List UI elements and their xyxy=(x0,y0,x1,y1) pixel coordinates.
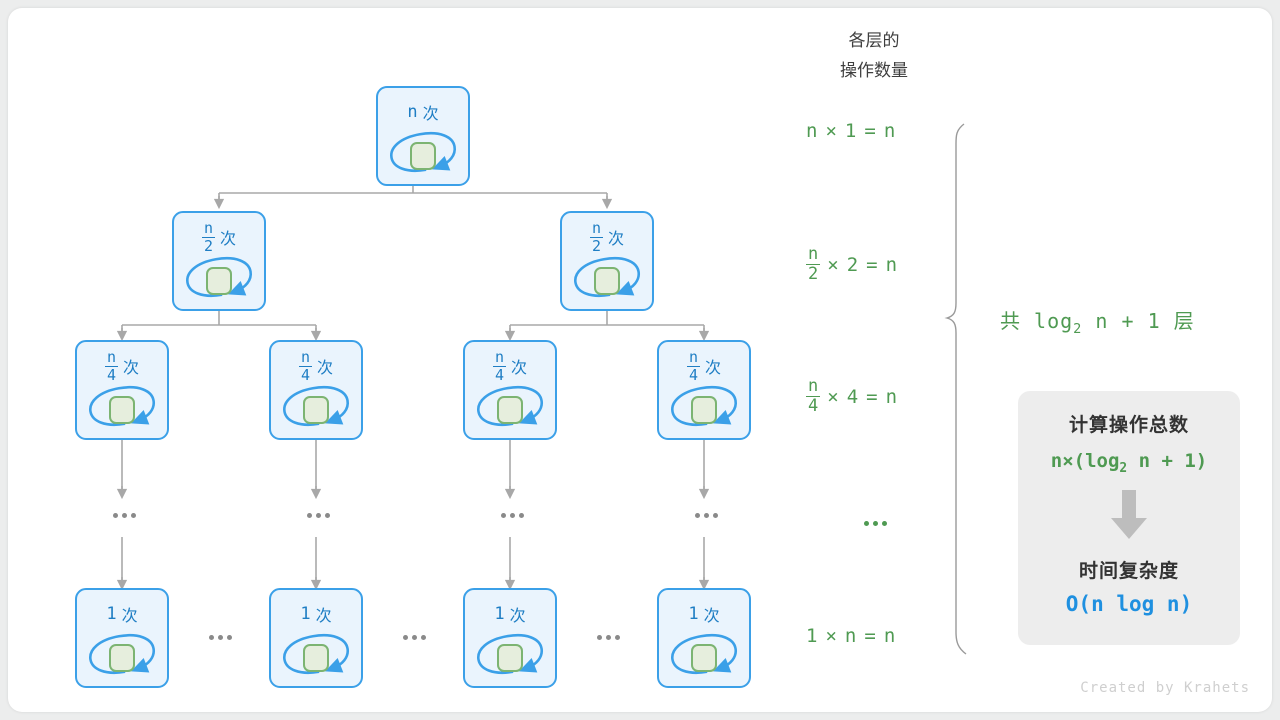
tree-node-level-3-1[interactable]: n 4 次 xyxy=(75,340,169,440)
tree-node-leaf-2[interactable]: 1 次 xyxy=(269,588,363,688)
equation-level-leaf: 1 × n = n xyxy=(806,625,896,647)
tree-node-level-3-2[interactable]: n 4 次 xyxy=(269,340,363,440)
node-count-leaf: 1 xyxy=(300,604,310,624)
fraction-numerator: n xyxy=(202,221,215,237)
info-title-total-operations: 计算操作总数 xyxy=(1069,410,1189,437)
fraction-numerator: n xyxy=(806,378,820,396)
equation-level-1: n × 1 = n xyxy=(806,120,896,142)
node-suffix: 次 xyxy=(510,602,526,626)
fraction-numerator: n xyxy=(105,350,118,366)
ellipsis-horizontal-3 xyxy=(597,635,620,640)
node-count-level-1: n xyxy=(407,102,417,122)
ellipsis-horizontal-1 xyxy=(209,635,232,640)
level-count-brace xyxy=(947,124,966,654)
equation-level-2: n 2 × 2 = n xyxy=(806,246,898,283)
brace-label-suffix: 层 xyxy=(1174,309,1195,333)
brace-label-total-levels: 共 log2 n + 1 层 xyxy=(1000,305,1195,337)
multiply-sign: × xyxy=(827,386,839,408)
down-arrow-icon xyxy=(1109,488,1149,542)
equation-level-3: n 4 × 4 = n xyxy=(806,378,898,415)
node-suffix: 次 xyxy=(123,354,139,378)
loop-arrow-icon xyxy=(666,628,742,680)
fraction-n-over-2: n 2 xyxy=(806,246,820,283)
node-label-leaf-4: 1 次 xyxy=(659,599,749,629)
brace-label-base: 2 xyxy=(1073,321,1082,337)
fraction-numerator: n xyxy=(299,350,312,366)
multiply-sign: × xyxy=(825,120,837,142)
loop-arrow-icon xyxy=(278,380,354,432)
loop-arrow-icon xyxy=(278,628,354,680)
credit-text: Created by Krahets xyxy=(1080,680,1250,696)
node-label-leaf-2: 1 次 xyxy=(271,599,361,629)
fraction-n-over-2: n 2 xyxy=(202,221,215,254)
node-suffix: 次 xyxy=(608,225,624,249)
summary-info-box: 计算操作总数 n×(log2 n + 1) 时间复杂度 O(n log n) xyxy=(1018,391,1240,645)
tree-node-level-3-4[interactable]: n 4 次 xyxy=(657,340,751,440)
loop-arrow-icon xyxy=(666,380,742,432)
fraction-numerator: n xyxy=(806,246,820,264)
equation-factor: 2 xyxy=(847,254,859,276)
loop-arrow-icon xyxy=(472,628,548,680)
node-suffix: 次 xyxy=(423,100,439,124)
loop-arrow-icon xyxy=(84,628,160,680)
info-formula-total-operations: n×(log2 n + 1) xyxy=(1051,450,1208,476)
node-suffix: 次 xyxy=(316,602,332,626)
fraction-numerator: n xyxy=(493,350,506,366)
equation-factor: 4 xyxy=(847,386,859,408)
equation-factor: 1 xyxy=(845,120,857,142)
fraction-denominator: 2 xyxy=(806,264,820,283)
multiply-sign: × xyxy=(825,625,837,647)
brace-label-log: log xyxy=(1034,309,1073,333)
tree-node-level-2-left[interactable]: n 2 次 xyxy=(172,211,266,311)
fraction-numerator: n xyxy=(590,221,603,237)
brace-label-rest: n + 1 xyxy=(1095,309,1160,333)
node-label-level-3-4: n 4 次 xyxy=(659,351,749,381)
tree-node-level-1[interactable]: n 次 xyxy=(376,86,470,186)
fraction-numerator: n xyxy=(687,350,700,366)
equation-result: n xyxy=(884,120,896,142)
node-count-leaf: 1 xyxy=(106,604,116,624)
node-label-level-3-2: n 4 次 xyxy=(271,351,361,381)
diagram-canvas: 各层的 操作数量 xyxy=(8,8,1272,712)
loop-arrow-icon xyxy=(569,251,645,303)
tree-node-leaf-3[interactable]: 1 次 xyxy=(463,588,557,688)
node-label-level-2-right: n 2 次 xyxy=(562,222,652,252)
node-count-leaf: 1 xyxy=(494,604,504,624)
tree-node-leaf-4[interactable]: 1 次 xyxy=(657,588,751,688)
node-suffix: 次 xyxy=(317,354,333,378)
node-suffix: 次 xyxy=(705,354,721,378)
node-count-leaf: 1 xyxy=(688,604,698,624)
fraction-n-over-2: n 2 xyxy=(590,221,603,254)
ellipsis-vertical-1 xyxy=(113,513,136,518)
node-label-level-3-3: n 4 次 xyxy=(465,351,555,381)
loop-arrow-icon xyxy=(84,380,160,432)
fraction-n-over-4: n 4 xyxy=(105,350,118,383)
equation-result: n xyxy=(886,254,898,276)
equals-sign: = xyxy=(864,625,876,647)
node-suffix: 次 xyxy=(704,602,720,626)
node-suffix: 次 xyxy=(220,225,236,249)
equation-result: n xyxy=(884,625,896,647)
node-label-leaf-3: 1 次 xyxy=(465,599,555,629)
formula-prefix: n×(log xyxy=(1051,450,1120,472)
fraction-denominator: 4 xyxy=(806,396,820,415)
info-title-time-complexity: 时间复杂度 xyxy=(1079,556,1179,583)
formula-base: 2 xyxy=(1119,461,1127,476)
equals-sign: = xyxy=(866,254,878,276)
equation-factor: n xyxy=(845,625,857,647)
tree-node-leaf-1[interactable]: 1 次 xyxy=(75,588,169,688)
node-suffix: 次 xyxy=(511,354,527,378)
node-label-level-3-1: n 4 次 xyxy=(77,351,167,381)
multiply-sign: × xyxy=(827,254,839,276)
loop-arrow-icon xyxy=(385,126,461,178)
fraction-n-over-4: n 4 xyxy=(493,350,506,383)
equals-sign: = xyxy=(866,386,878,408)
ellipsis-equations xyxy=(864,521,887,526)
node-suffix: 次 xyxy=(122,602,138,626)
equation-result: n xyxy=(886,386,898,408)
node-label-level-1: n 次 xyxy=(378,97,468,127)
equals-sign: = xyxy=(864,120,876,142)
ellipsis-vertical-4 xyxy=(695,513,718,518)
ellipsis-vertical-3 xyxy=(501,513,524,518)
tree-node-level-3-3[interactable]: n 4 次 xyxy=(463,340,557,440)
fraction-n-over-4: n 4 xyxy=(806,378,820,415)
equation-left-term: 1 xyxy=(806,625,818,647)
ellipsis-vertical-2 xyxy=(307,513,330,518)
node-label-level-2-left: n 2 次 xyxy=(174,222,264,252)
formula-suffix: n + 1) xyxy=(1127,450,1207,472)
fraction-n-over-4: n 4 xyxy=(299,350,312,383)
tree-node-level-2-right[interactable]: n 2 次 xyxy=(560,211,654,311)
equation-left-term: n xyxy=(806,120,818,142)
loop-arrow-icon xyxy=(181,251,257,303)
loop-arrow-icon xyxy=(472,380,548,432)
ellipsis-horizontal-2 xyxy=(403,635,426,640)
brace-label-prefix: 共 xyxy=(1000,309,1021,333)
fraction-n-over-4: n 4 xyxy=(687,350,700,383)
node-label-leaf-1: 1 次 xyxy=(77,599,167,629)
info-value-time-complexity: O(n log n) xyxy=(1066,592,1192,616)
